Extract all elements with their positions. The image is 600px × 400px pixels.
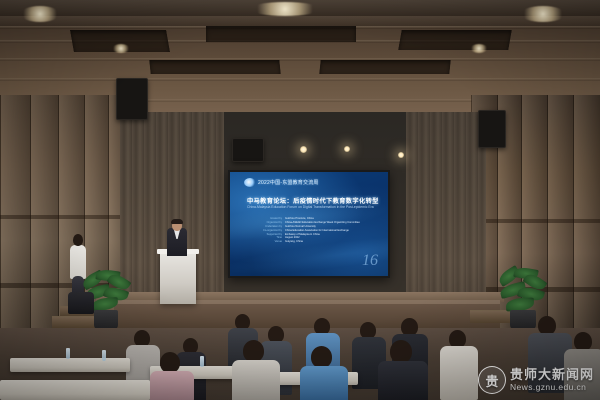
screen-forum-title: 中马教育论坛：后疫情时代下教育数字化转型 xyxy=(247,196,379,205)
screen-forum-subtitle: China-Malaysia Education Forum on Digita… xyxy=(247,205,374,209)
ceiling-speaker-right xyxy=(478,110,506,148)
screen-header-line: 2022中国-东盟教育交流周 xyxy=(258,179,319,186)
watermark-badge-icon: 贵 xyxy=(478,366,506,394)
conference-emblem-icon xyxy=(244,178,256,187)
site-watermark: 贵 贵师大新闻网 News.gznu.edu.cn xyxy=(478,366,594,394)
stage-spotlight xyxy=(300,146,307,153)
water-bottle xyxy=(102,350,106,361)
screen-edition-mark: 16 xyxy=(362,252,378,270)
presenter-hair xyxy=(171,219,183,224)
audience-table xyxy=(0,380,150,400)
water-bottle xyxy=(66,348,70,359)
credit-key: Venue xyxy=(252,240,282,244)
wall-speaker-mid xyxy=(232,138,264,162)
speaker-podium xyxy=(160,252,196,304)
watermark-title: 贵师大新闻网 xyxy=(510,368,594,383)
stage-spotlight-3 xyxy=(398,152,404,158)
watermark-url: News.gznu.edu.cn xyxy=(510,383,594,393)
conference-hall-photo: 2022中国-东盟教育交流周 中马教育论坛：后疫情时代下教育数字化转型 Chin… xyxy=(0,0,600,400)
presentation-screen: 2022中国-东盟教育交流周 中马教育论坛：后疫情时代下教育数字化转型 Chin… xyxy=(228,170,390,278)
screen-credits-list: Hosted by Guizhou Province, China Organi… xyxy=(252,217,377,244)
standing-attendee-head xyxy=(73,234,83,246)
audience-table xyxy=(10,358,130,372)
water-bottle xyxy=(200,356,204,367)
stage-spotlight-2 xyxy=(344,146,350,152)
ceiling-speaker xyxy=(116,78,148,120)
credit-value: Guiyang, China xyxy=(285,240,377,244)
audience-chair xyxy=(68,292,94,314)
